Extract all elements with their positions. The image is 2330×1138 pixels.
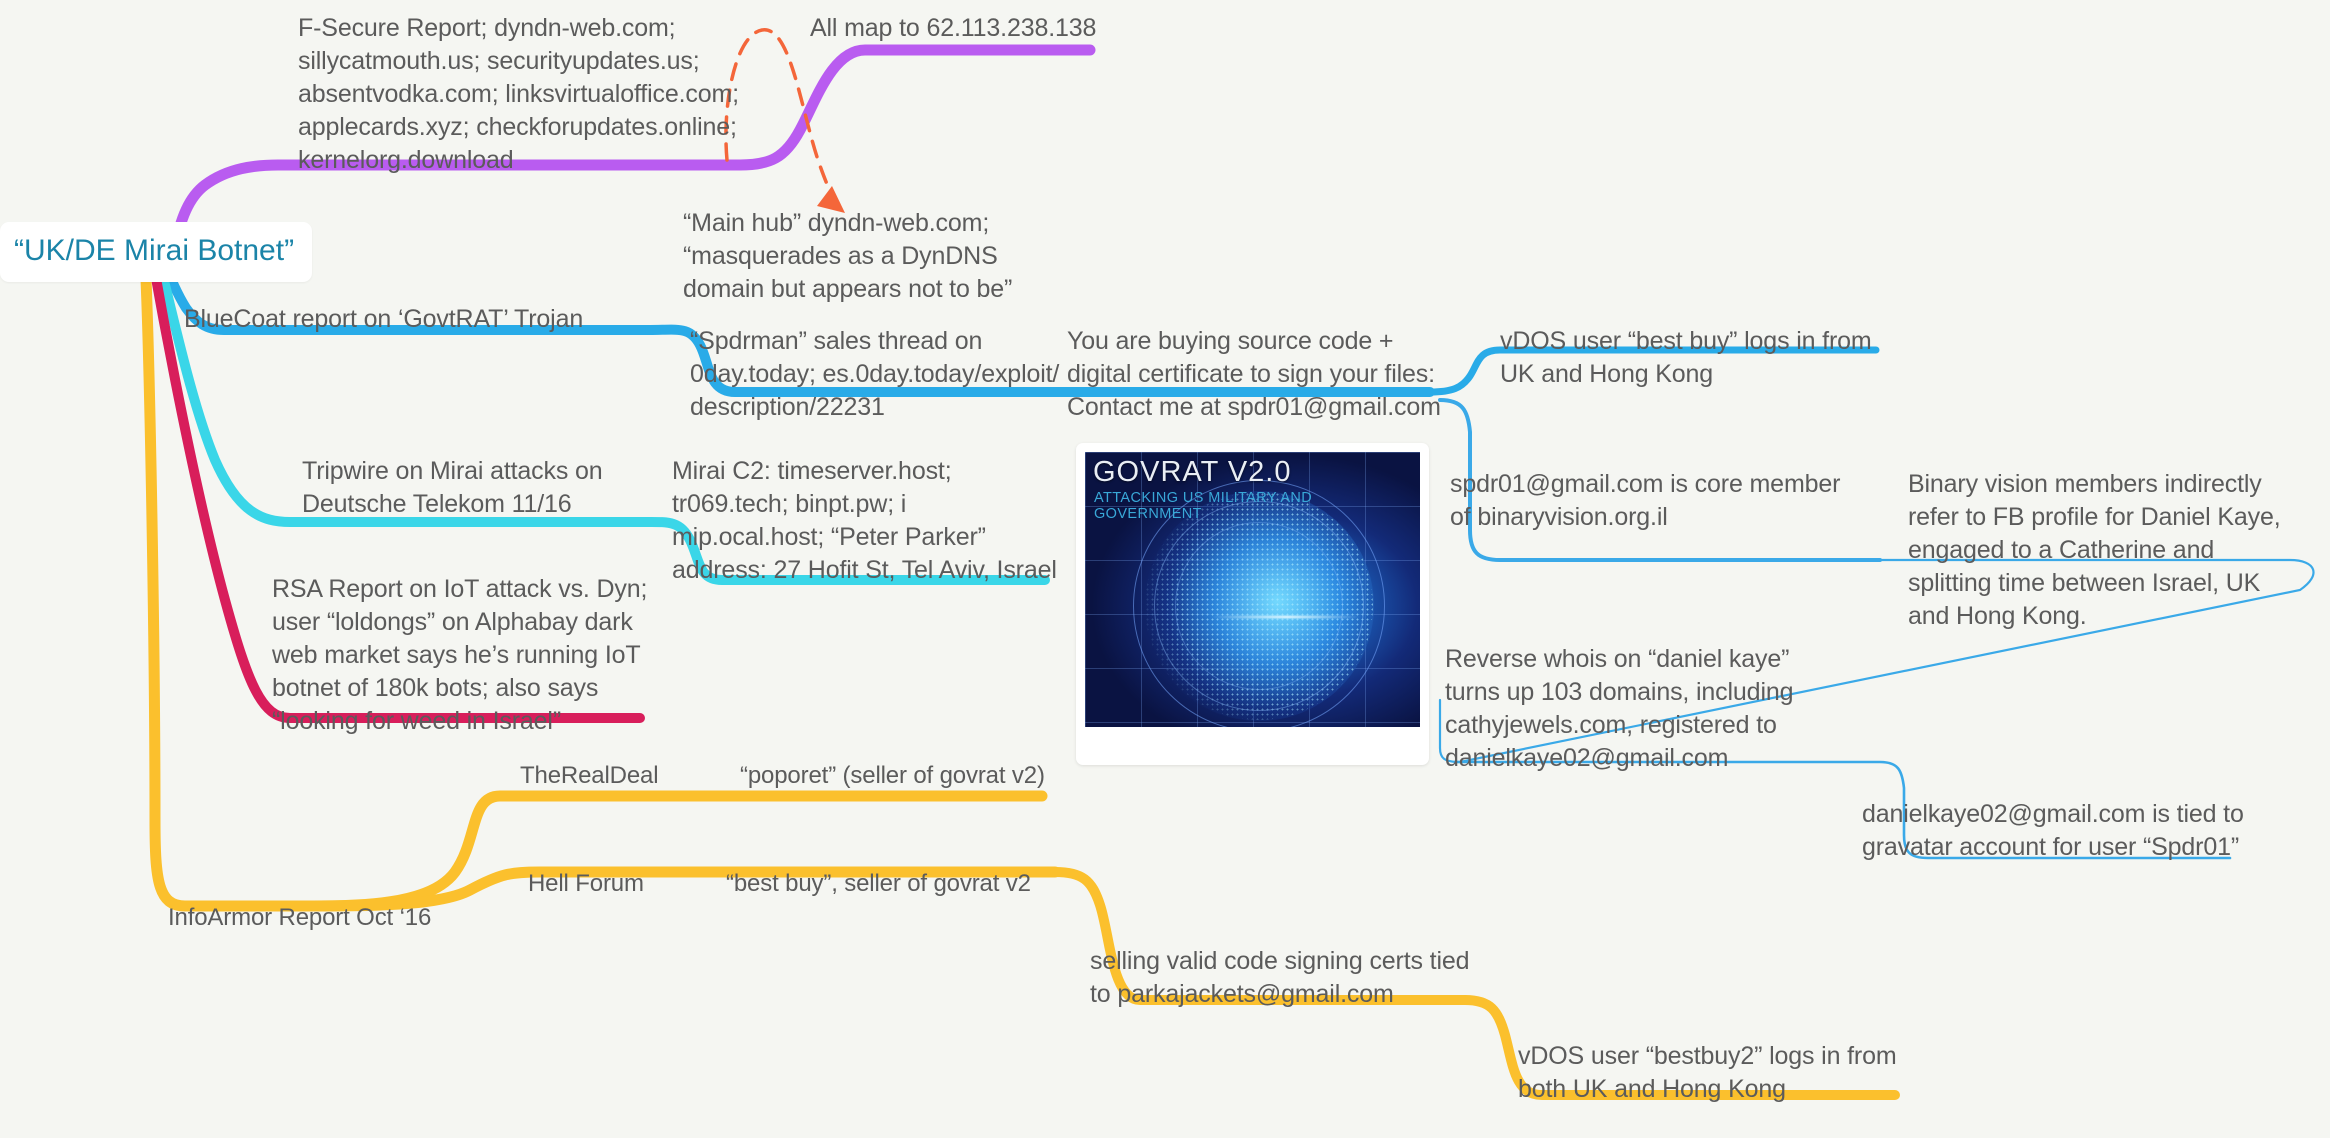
node-bluecoat-report[interactable]: BlueCoat report on ‘GovtRAT’ Trojan [184,303,654,336]
node-binary-vision-members[interactable]: Binary vision members indirectly refer t… [1908,468,2308,633]
node-all-map-to-ip[interactable]: All map to 62.113.238.138 [810,12,1210,45]
node-spdrman-sales-thread[interactable]: “Spdrman” sales thread on 0day.today; es… [690,325,1090,424]
node-reverse-whois[interactable]: Reverse whois on “daniel kaye” turns up … [1445,643,1845,775]
node-selling-certs[interactable]: selling valid code signing certs tied to… [1090,945,1490,1011]
node-tripwire-mirai[interactable]: Tripwire on Mirai attacks on Deutsche Te… [302,455,702,521]
node-mirai-c2[interactable]: Mirai C2: timeserver.host; tr069.tech; b… [672,455,1072,587]
node-main-hub[interactable]: “Main hub” dyndn-web.com; “masquerades a… [683,207,1023,306]
node-fsecure-report[interactable]: F-Secure Report; dyndn-web.com; sillycat… [298,12,768,177]
node-bestbuy-seller[interactable]: “best buy”, seller of govrat v2 [726,868,1126,900]
govrat-image-card[interactable]: GOVRAT V2.0 ATTACKING US MILITARY AND GO… [1076,443,1429,765]
light-flare [1211,616,1361,619]
root-node[interactable]: “UK/DE Mirai Botnet” [0,222,312,282]
node-spdr01-core-member[interactable]: spdr01@gmail.com is core member of binar… [1450,468,1850,534]
node-infoarmor-report[interactable]: InfoArmor Report Oct ‘16 [168,902,568,934]
node-rsa-report[interactable]: RSA Report on IoT attack vs. Dyn; user “… [272,573,672,738]
node-vdos-bestbuy2[interactable]: vDOS user “bestbuy2” logs in from both U… [1518,1040,1918,1106]
node-poporet-seller[interactable]: “poporet” (seller of govrat v2) [740,760,1140,792]
node-gravatar-account[interactable]: danielkaye02@gmail.com is tied to gravat… [1862,798,2282,864]
orbit-ring-3 [1175,522,1343,690]
node-buying-source-code[interactable]: You are buying source code + digital cer… [1067,325,1467,424]
govrat-subtitle: ATTACKING US MILITARY AND GOVERNMENT [1094,490,1420,522]
govrat-title: GOVRAT V2.0 [1093,456,1292,489]
node-vdos-best-buy[interactable]: vDOS user “best buy” logs in from UK and… [1500,325,1900,391]
mindmap-canvas: “UK/DE Mirai Botnet” F-Secure Report; dy… [0,0,2330,1138]
govrat-banner-image: GOVRAT V2.0 ATTACKING US MILITARY AND GO… [1085,452,1420,727]
